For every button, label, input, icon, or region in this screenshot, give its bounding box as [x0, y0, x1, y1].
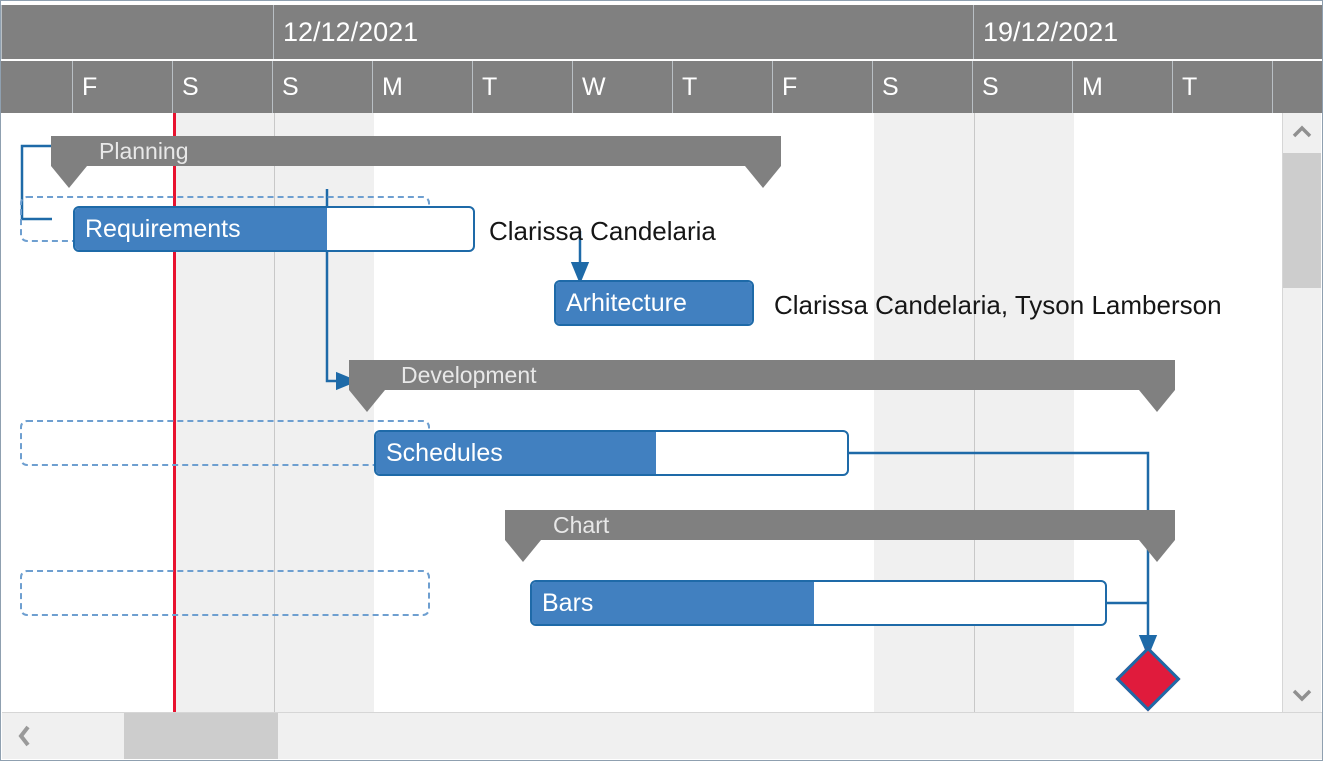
- task-bar-label: Arhitecture: [566, 282, 687, 324]
- timeline-header: 12/12/202119/12/2021 FSSMTWTFSSMT: [1, 1, 1323, 113]
- timeline-week-cell: 19/12/2021: [973, 5, 1274, 59]
- timeline-day-cell: F: [773, 61, 873, 113]
- chevron-down-icon[interactable]: [1283, 676, 1321, 714]
- summary-cap-left: [51, 166, 87, 188]
- timeline-day-cell: [1, 61, 73, 113]
- summary-cap-right: [1139, 540, 1175, 562]
- summary-bar-label: Chart: [553, 510, 609, 540]
- timeline-day-cell: S: [973, 61, 1073, 113]
- chevron-left-icon[interactable]: [2, 713, 48, 759]
- timeline-day-row: FSSMTWTFSSMT: [1, 61, 1323, 113]
- task-bar-label: Requirements: [85, 208, 241, 250]
- gantt-chart-body: PlanningRequirementsArhitectureDevelopme…: [2, 113, 1285, 714]
- timeline-week-cell: 12/12/2021: [273, 5, 973, 59]
- timeline-day-cell: T: [473, 61, 573, 113]
- timeline-day-cell: T: [1173, 61, 1273, 113]
- chevron-up-icon[interactable]: [1283, 113, 1321, 151]
- timeline-day-cell: M: [1073, 61, 1173, 113]
- task-bar[interactable]: Requirements: [73, 206, 475, 252]
- summary-cap-right: [745, 166, 781, 188]
- gantt-chart: 12/12/202119/12/2021 FSSMTWTFSSMT: [0, 0, 1323, 761]
- summary-cap-left: [349, 390, 385, 412]
- resource-label: Clarissa Candelaria, Tyson Lamberson: [774, 290, 1222, 321]
- task-bar[interactable]: Bars: [530, 580, 1107, 626]
- timeline-day-cell: S: [173, 61, 273, 113]
- resource-label: Clarissa Candelaria: [489, 216, 716, 247]
- summary-bar-label: Development: [401, 360, 537, 390]
- task-bar[interactable]: Arhitecture: [554, 280, 754, 326]
- timeline-day-cell: F: [73, 61, 173, 113]
- task-bar-label: Bars: [542, 582, 593, 624]
- timeline-week-row: 12/12/202119/12/2021: [1, 5, 1323, 59]
- baseline-bar: [20, 420, 430, 466]
- timeline-week-cell: [1, 5, 273, 59]
- summary-cap-right: [1139, 390, 1175, 412]
- task-bar[interactable]: Schedules: [374, 430, 849, 476]
- vertical-scrollbar[interactable]: [1282, 113, 1321, 714]
- horizontal-scrollbar[interactable]: [2, 712, 1323, 759]
- timeline-day-cell: S: [873, 61, 973, 113]
- horizontal-scrollbar-thumb[interactable]: [124, 713, 278, 759]
- baseline-bar: [20, 570, 430, 616]
- task-bar-label: Schedules: [386, 432, 503, 474]
- milestone-diamond[interactable]: [1115, 646, 1180, 711]
- timeline-day-cell: M: [373, 61, 473, 113]
- timeline-day-cell: W: [573, 61, 673, 113]
- vertical-scrollbar-thumb[interactable]: [1283, 153, 1321, 288]
- summary-bar-label: Planning: [99, 136, 189, 166]
- summary-cap-left: [505, 540, 541, 562]
- scrollbar-corner: [1283, 713, 1321, 759]
- timeline-day-cell: S: [273, 61, 373, 113]
- timeline-day-cell: T: [673, 61, 773, 113]
